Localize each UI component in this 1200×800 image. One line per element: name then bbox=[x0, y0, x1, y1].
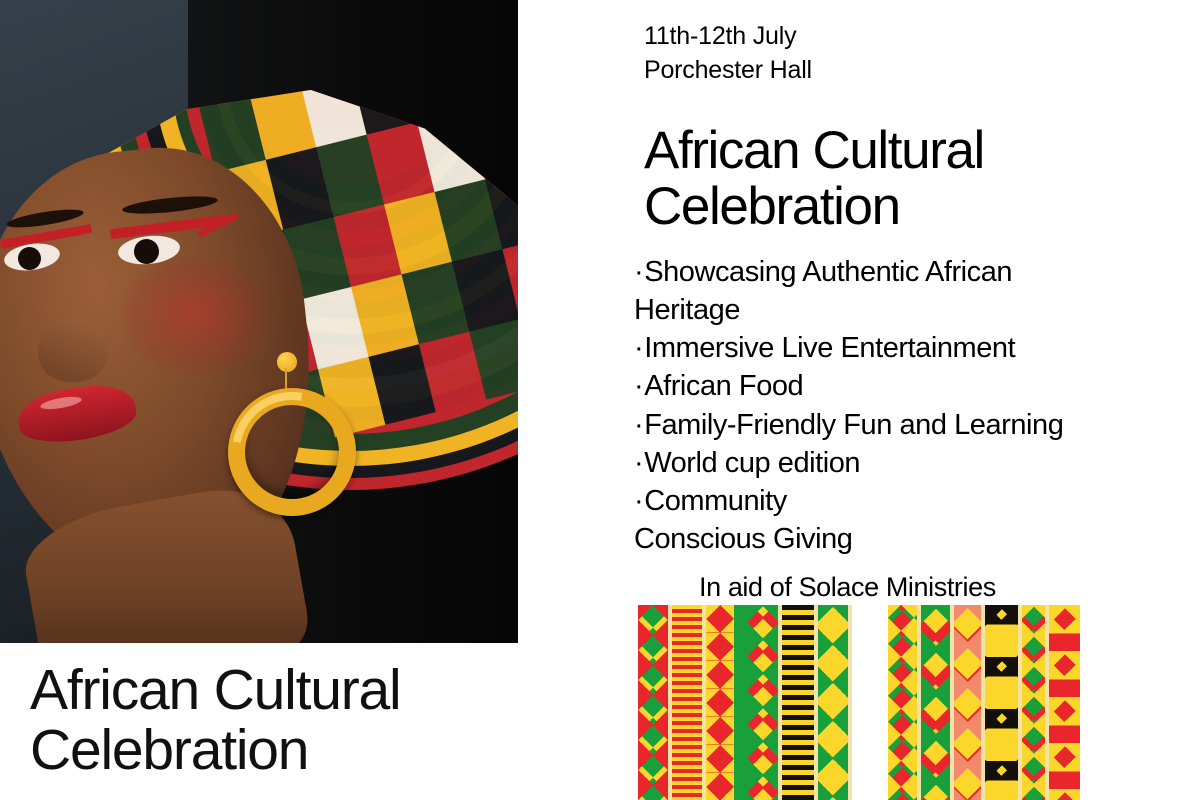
feature-item: ·Showcasing Authentic African Heritage bbox=[634, 253, 1104, 329]
event-dates: 11th-12th July bbox=[644, 20, 812, 54]
footer-title: African Cultural Celebration bbox=[30, 660, 590, 781]
bullet-dot-icon: · bbox=[634, 332, 643, 364]
bullet-dot-icon: · bbox=[634, 447, 643, 479]
kente-strip bbox=[954, 605, 981, 800]
page-title: African Cultural Celebration bbox=[644, 123, 1064, 235]
portrait-photo bbox=[0, 0, 518, 643]
kente-strip bbox=[985, 605, 1018, 800]
iris-left bbox=[18, 247, 41, 270]
kente-strip bbox=[638, 605, 668, 800]
kente-strip bbox=[1022, 605, 1045, 800]
feature-label: Immersive Live Entertainment bbox=[644, 332, 1015, 364]
feature-label: African Food bbox=[644, 370, 803, 402]
cheek-blush bbox=[120, 255, 270, 375]
event-meta: 11th-12th July Porchester Hall bbox=[644, 20, 812, 87]
charity-note: In aid of Solace Ministries bbox=[699, 572, 996, 603]
feature-label: Family-Friendly Fun and Learning bbox=[644, 409, 1063, 441]
kente-strip bbox=[748, 605, 778, 800]
kente-strip bbox=[672, 605, 702, 800]
kente-strip bbox=[706, 605, 734, 800]
earring-stud bbox=[277, 352, 297, 372]
page-title-line2: Celebration bbox=[644, 179, 1064, 235]
feature-list: ·Showcasing Authentic African Heritage·I… bbox=[634, 253, 1104, 558]
kente-panel-left bbox=[638, 605, 856, 800]
bullet-dot-icon: · bbox=[634, 485, 643, 517]
bullet-dot-icon: · bbox=[634, 409, 643, 441]
feature-item: ·Family-Friendly Fun and Learning bbox=[634, 406, 1104, 444]
footer-title-line1: African Cultural bbox=[30, 660, 590, 720]
bullet-dot-icon: · bbox=[634, 256, 643, 288]
kente-strip bbox=[848, 605, 852, 800]
kente-strip bbox=[734, 605, 748, 800]
page-title-line1: African Cultural bbox=[644, 123, 1064, 179]
feature-label: Community Conscious Giving bbox=[634, 485, 852, 555]
nose bbox=[38, 318, 108, 382]
kente-strip bbox=[1049, 605, 1080, 800]
feature-item: ·World cup edition bbox=[634, 444, 1104, 482]
kente-strip bbox=[818, 605, 848, 800]
kente-panel-right bbox=[888, 605, 1080, 800]
feature-item: ·Immersive Live Entertainment bbox=[634, 329, 1104, 367]
kente-strip bbox=[888, 605, 917, 800]
bullet-dot-icon: · bbox=[634, 370, 643, 402]
event-venue: Porchester Hall bbox=[644, 54, 812, 88]
kente-strip bbox=[921, 605, 950, 800]
feature-label: Showcasing Authentic African Heritage bbox=[634, 256, 1012, 326]
kente-strip bbox=[782, 605, 814, 800]
feature-item: ·Community Conscious Giving bbox=[634, 482, 1104, 558]
iris-right bbox=[134, 239, 159, 264]
feature-label: World cup edition bbox=[644, 447, 860, 479]
footer-title-line2: Celebration bbox=[30, 720, 590, 780]
feature-item: ·African Food bbox=[634, 367, 1104, 405]
